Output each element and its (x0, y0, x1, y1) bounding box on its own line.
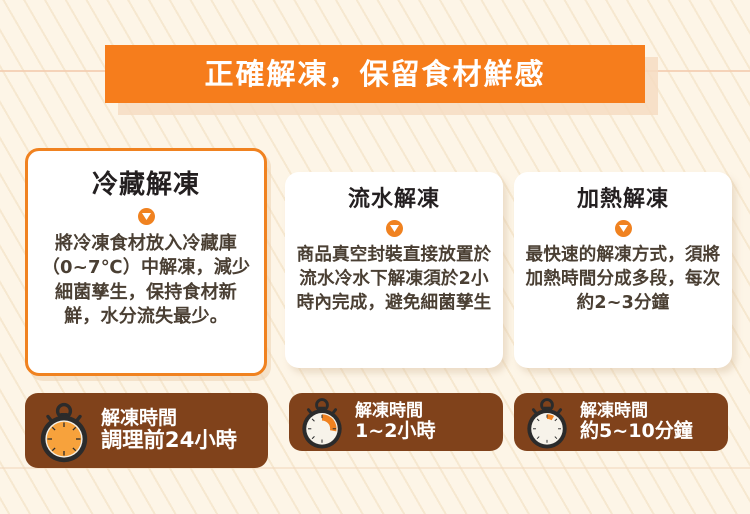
badge-value: 調理前24小時 (101, 429, 237, 453)
badge-text-group: 解凍時間 約5~10分鐘 (580, 402, 693, 442)
chevron-down-icon (138, 208, 155, 225)
card-description: 最快速的解凍方式，須將加熱時間分成多段，每次約2~3分鐘 (514, 244, 732, 315)
stopwatch-icon (295, 394, 349, 450)
badge-text-group: 解凍時間 1~2小時 (355, 402, 436, 442)
method-card-running-water[interactable]: 流水解凍 商品真空封裝直接放置於流水冷水下解凍須於2小時內完成，避免細菌孳生 (285, 172, 503, 368)
card-title: 冷藏解凍 (92, 171, 200, 200)
badge-label: 解凍時間 (355, 402, 436, 421)
stopwatch-icon (520, 394, 574, 450)
badge-value: 約5~10分鐘 (580, 421, 693, 442)
thaw-time-badge-running-water: 解凍時間 1~2小時 (289, 393, 503, 451)
thaw-time-badge-heating: 解凍時間 約5~10分鐘 (514, 393, 728, 451)
thaw-time-badge-refrigerator: 解凍時間 調理前24小時 (25, 393, 268, 468)
stopwatch-icon (33, 398, 95, 464)
card-title: 流水解凍 (348, 188, 440, 212)
badge-value: 1~2小時 (355, 421, 436, 442)
card-description: 商品真空封裝直接放置於流水冷水下解凍須於2小時內完成，避免細菌孳生 (285, 244, 503, 315)
chevron-down-icon (386, 220, 403, 237)
method-card-heating[interactable]: 加熱解凍 最快速的解凍方式，須將加熱時間分成多段，每次約2~3分鐘 (514, 172, 732, 368)
card-description: 將冷凍食材放入冷藏庫（0~7℃）中解凍，減少細菌孳生，保持食材新鮮，水分流失最少… (28, 232, 264, 330)
page-title: 正確解凍，保留食材鮮感 (204, 60, 545, 89)
card-title: 加熱解凍 (577, 188, 669, 212)
method-card-refrigerator[interactable]: 冷藏解凍 將冷凍食材放入冷藏庫（0~7℃）中解凍，減少細菌孳生，保持食材新鮮，水… (25, 148, 267, 376)
infographic-root: 正確解凍，保留食材鮮感 冷藏解凍 將冷凍食材放入冷藏庫（0~7℃）中解凍，減少細… (0, 0, 750, 514)
badge-label: 解凍時間 (580, 402, 693, 421)
badge-label: 解凍時間 (101, 408, 237, 429)
badge-text-group: 解凍時間 調理前24小時 (101, 408, 237, 453)
title-banner: 正確解凍，保留食材鮮感 (105, 45, 645, 103)
chevron-down-icon (615, 220, 632, 237)
